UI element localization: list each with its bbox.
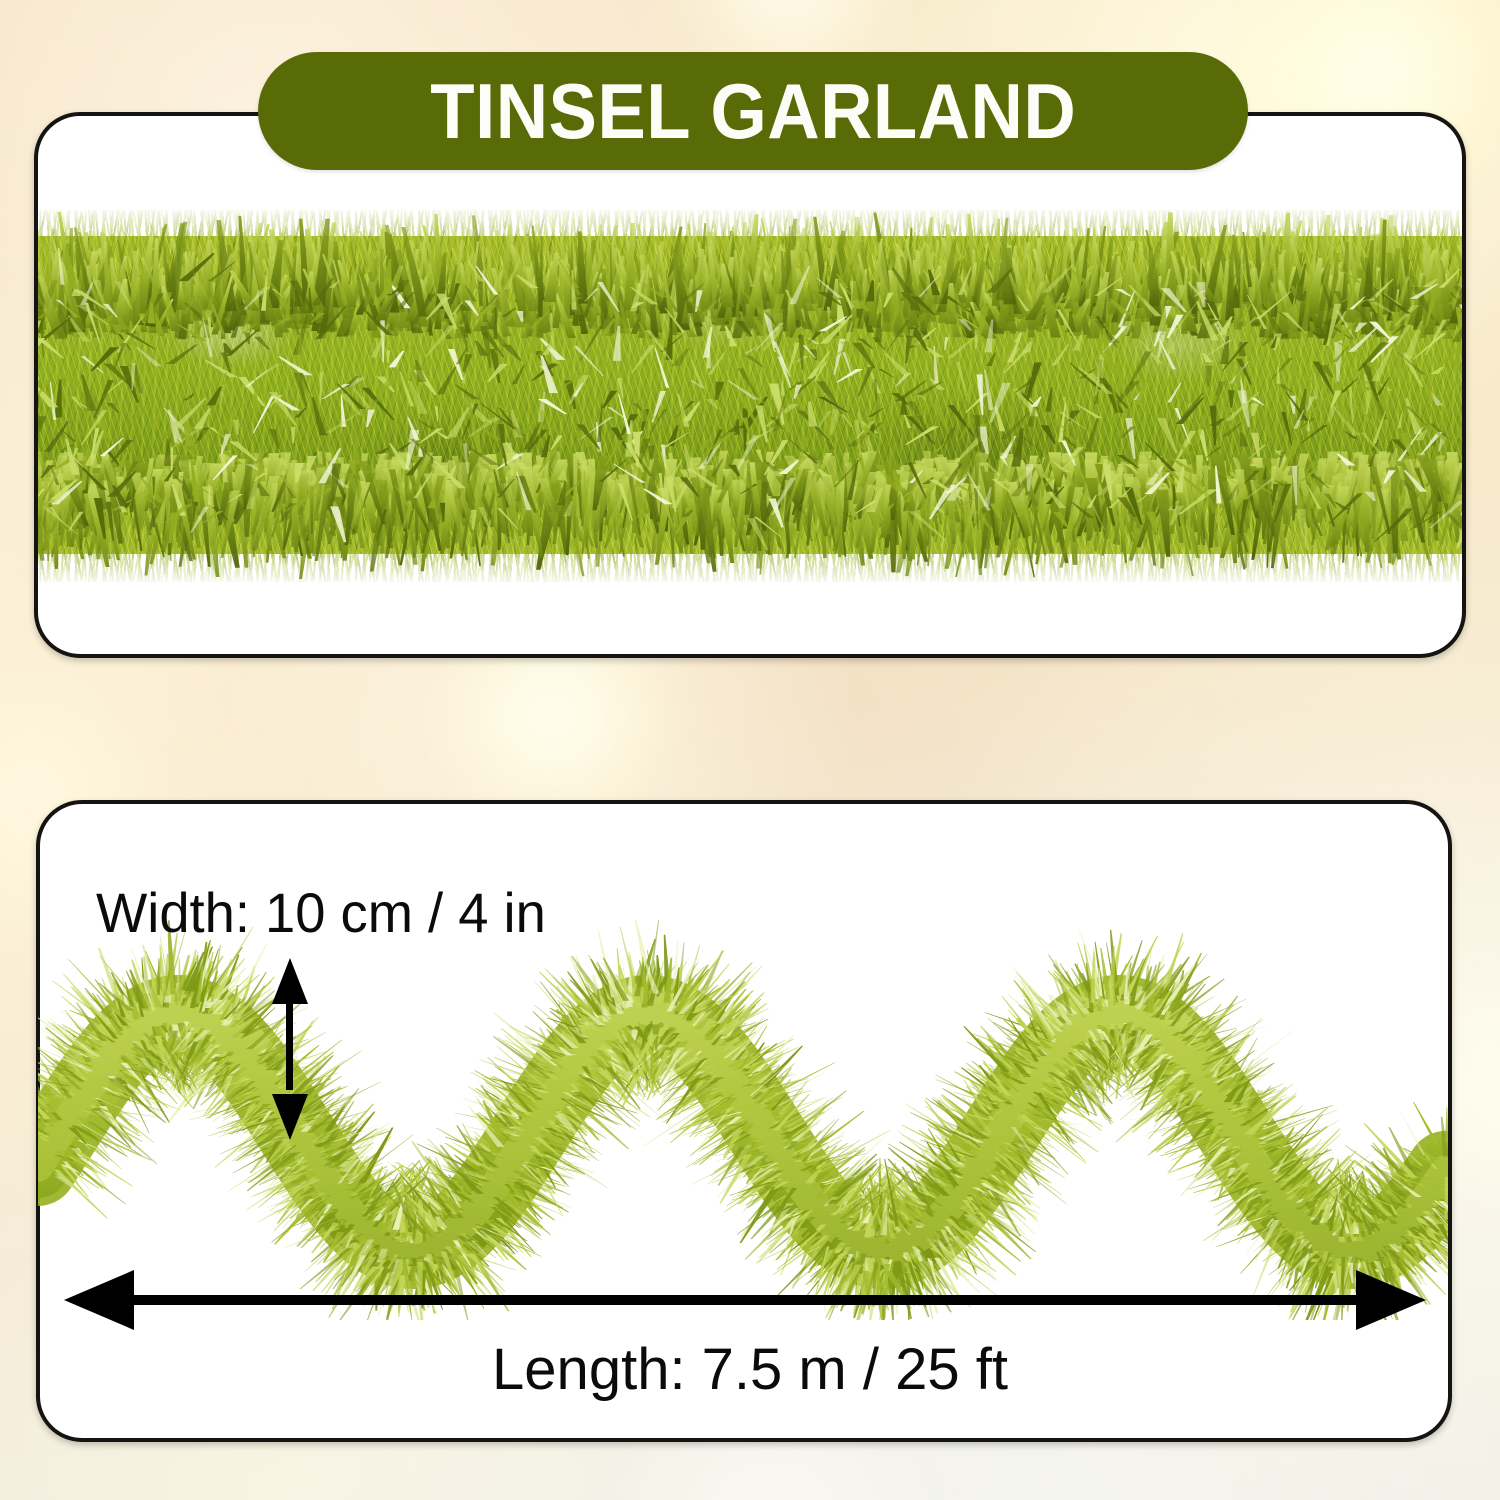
product-infographic: TINSEL GARLAND Width: 10 cm / 4 in	[0, 0, 1500, 1500]
badge-tinsel-garland-label: TINSEL GARLAND	[430, 66, 1076, 157]
tinsel-strip-photo	[38, 196, 1462, 596]
panel-tinsel-garland	[34, 112, 1466, 658]
width-dimension-label: Width: 10 cm / 4 in	[96, 880, 546, 945]
tinsel-strand-overlay	[38, 210, 1462, 580]
length-dimension-label: Length: 7.5 m / 25 ft	[0, 1336, 1500, 1403]
tinsel-wave-illustration	[38, 920, 1448, 1320]
badge-tinsel-garland: TINSEL GARLAND	[258, 52, 1248, 170]
